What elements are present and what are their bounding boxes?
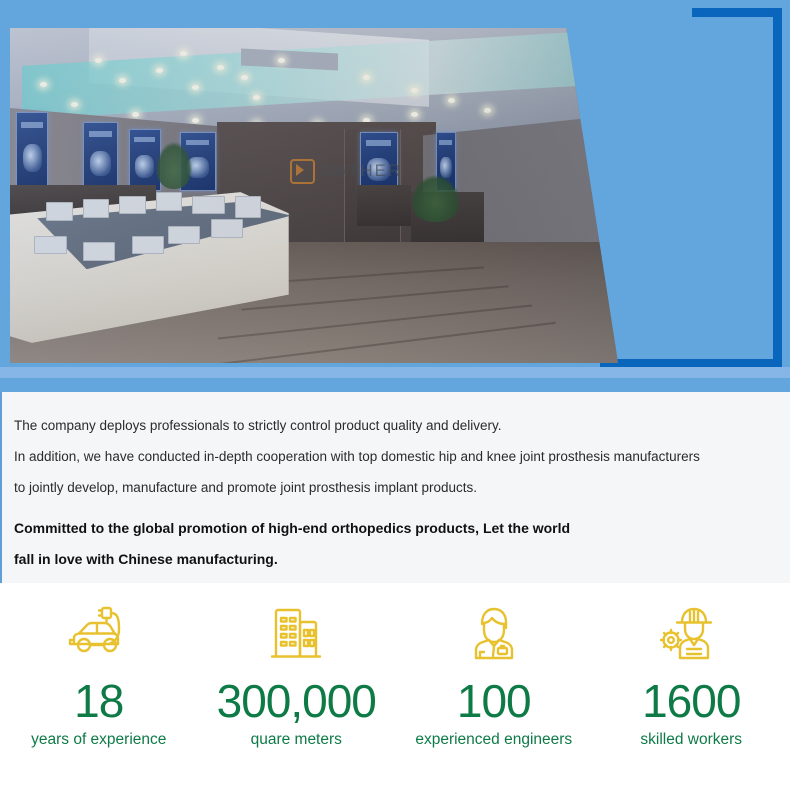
decorative-blue-band: [0, 367, 790, 378]
description-line-2: In addition, we have conducted in-depth …: [14, 441, 776, 472]
description-line-3: to jointly develop, manufacture and prom…: [14, 472, 776, 503]
photo-product-sample: [156, 192, 182, 211]
statistics-section: 18 years of experience 300: [0, 583, 790, 787]
engineer-person-icon: [464, 597, 524, 671]
photo-downlight: [278, 58, 285, 63]
photo-product-sample: [132, 236, 164, 255]
electric-car-icon: [66, 597, 132, 671]
photo-product-sample: [211, 219, 243, 238]
photo-downlight: [241, 75, 248, 80]
stat-item-skilled-workers: 1600 skilled workers: [596, 597, 786, 751]
stat-label: years of experience: [31, 729, 166, 751]
description-highlight-line-2: fall in love with Chinese manufacturing.: [14, 544, 776, 575]
stat-value: 100: [457, 675, 531, 727]
photo-product-sample: [119, 196, 145, 215]
stat-label: experienced engineers: [415, 729, 572, 751]
photo-display-poster: [16, 112, 48, 188]
photo-plant: [411, 175, 460, 222]
stat-label: quare meters: [251, 729, 342, 751]
photo-product-sample: [168, 226, 200, 245]
photo-product-sample: [34, 236, 66, 255]
office-buildings-icon: [266, 597, 326, 671]
description-highlight-line-1: Committed to the global promotion of hig…: [14, 513, 776, 544]
showroom-photo: GATHER: [10, 28, 618, 363]
photo-product-sample: [83, 199, 109, 218]
construction-worker-icon: [658, 597, 724, 671]
stat-item-years-of-experience: 18 years of experience: [4, 597, 194, 751]
photo-wall-cabinet: [357, 185, 412, 225]
photo-downlight: [40, 82, 47, 87]
gather-logo-icon: [290, 159, 315, 184]
decorative-frame-bracket: [692, 8, 782, 368]
photo-display-poster: [83, 122, 118, 191]
gather-watermark-text: GATHER: [321, 161, 403, 181]
description-spacer: [14, 503, 776, 513]
photo-downlight: [217, 65, 224, 70]
photo-downlight: [411, 112, 418, 117]
stat-value: 18: [74, 675, 123, 727]
description-panel: The company deploys professionals to str…: [0, 392, 790, 583]
photo-product-sample: [46, 202, 72, 221]
photo-product-sample: [235, 196, 261, 218]
stat-item-experienced-engineers: 100 experienced engineers: [399, 597, 589, 751]
photo-product-sample: [83, 242, 115, 261]
stat-value: 1600: [642, 675, 740, 727]
photo-plant: [156, 142, 192, 189]
hero-banner: GATHER: [0, 0, 790, 392]
stat-item-quare-meters: 300,000 quare meters: [201, 597, 391, 751]
description-line-1: The company deploys professionals to str…: [14, 410, 776, 441]
stat-value: 300,000: [217, 675, 376, 727]
photo-downlight: [363, 75, 370, 80]
gather-watermark: GATHER: [290, 159, 403, 184]
stat-label: skilled workers: [640, 729, 742, 751]
photo-product-sample: [192, 196, 224, 215]
photo-downlight: [71, 102, 78, 107]
photo-downlight: [132, 112, 139, 117]
